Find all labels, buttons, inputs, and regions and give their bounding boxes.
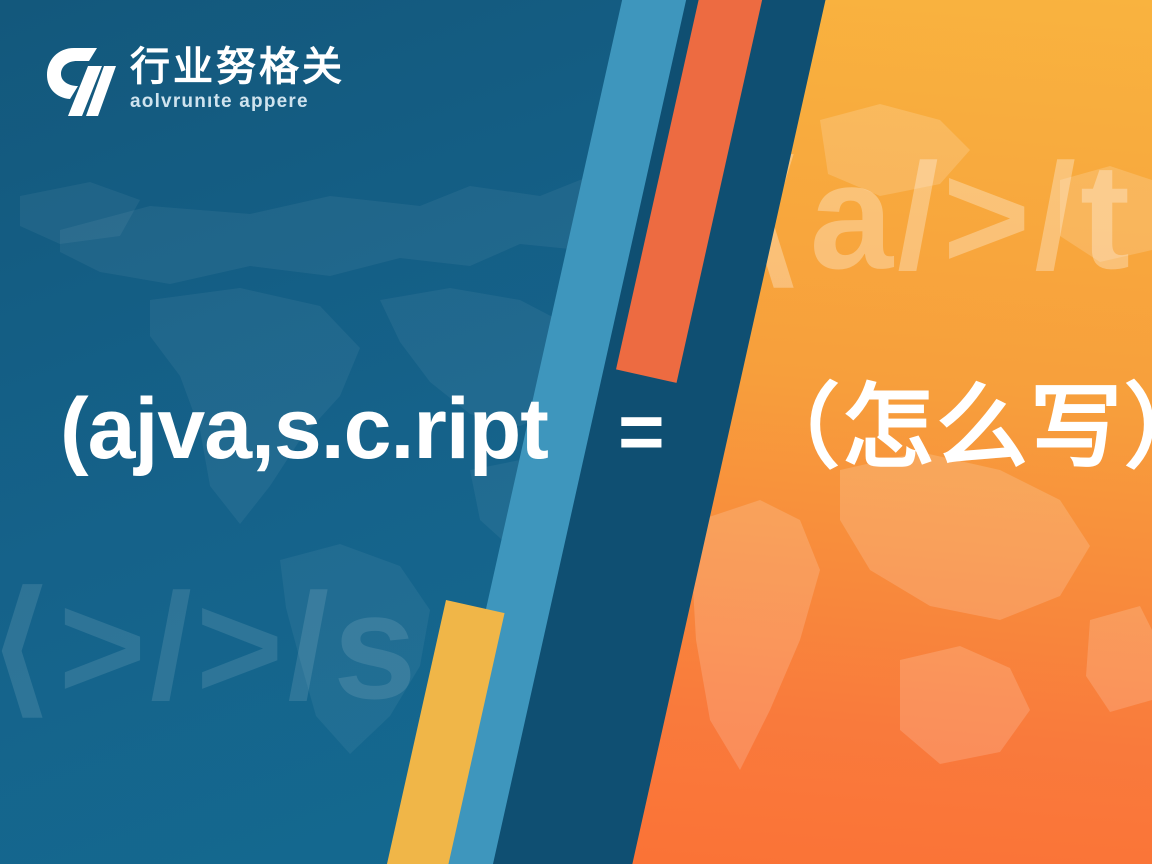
brand-name-en: aolvrunıte appere xyxy=(130,91,345,113)
headline-left-text: (ajva,s.c.ript xyxy=(60,386,548,472)
code-watermark-bottom-left: ⟨>/>/s xyxy=(0,560,421,734)
banner-canvas: ⟨>/>/s ⟨a/>/t xyxy=(0,0,1152,864)
headline-right-text: （怎么写） xyxy=(748,382,1152,474)
c-slash-logo-icon xyxy=(44,44,116,120)
brand-name-cn: 行业努格关 xyxy=(130,46,345,89)
headline-equals-sign: = xyxy=(618,392,665,472)
brand-logo[interactable]: 行业努格关 aolvrunıte appere xyxy=(44,44,345,120)
code-watermark-top-right: ⟨a/>/t xyxy=(737,130,1134,304)
page-title: (ajva,s.c.ript = （怎么写） xyxy=(0,382,1152,482)
brand-logo-text: 行业努格关 aolvrunıte appere xyxy=(130,44,345,113)
